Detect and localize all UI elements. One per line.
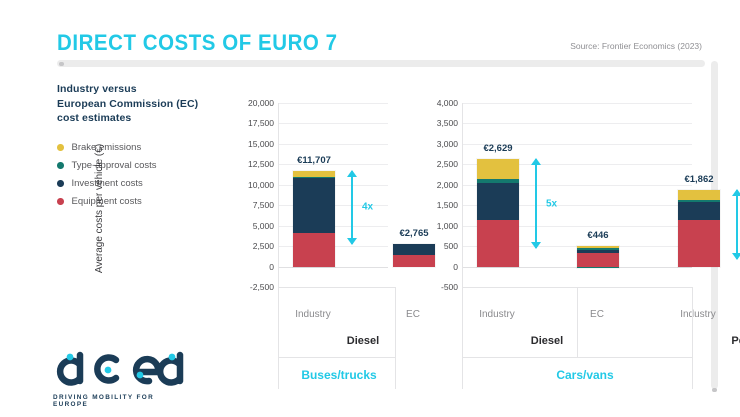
arrow-head-down: [531, 242, 541, 249]
fuel-label-diesel: Diesel: [531, 335, 563, 347]
arrow-head-up: [732, 189, 740, 196]
category-label-ec: EC: [590, 309, 604, 320]
y-axis-tick-label: 5,000: [253, 221, 274, 231]
bar-buses-trucks-1[interactable]: [393, 244, 435, 267]
y-axis-tick-label: 7,500: [253, 200, 274, 210]
y-axis-tick-label: 0: [453, 262, 458, 272]
bar-segment: [293, 171, 335, 177]
source-note: Source: Frontier Economics (2023): [570, 41, 702, 51]
category-label-industry: Industry: [680, 309, 716, 320]
legend-item: Brake emissions: [57, 140, 232, 156]
plot-area-cars-vans: 4,0003,5003,0002,5002,0001,5001,0005000-…: [462, 103, 692, 287]
fuel-label-diesel: Diesel: [347, 335, 379, 347]
y-axis-tick-label: 12,500: [248, 159, 274, 169]
bar-segment: [293, 233, 335, 267]
axis-separator-left-end: [395, 287, 396, 389]
legend-item-label: Investment costs: [72, 178, 143, 189]
arrow-shaft: [736, 190, 738, 259]
plot-baseline-left: [278, 287, 395, 288]
ratio-arrow-5x: 5x: [529, 159, 543, 248]
legend-swatch-1: [57, 144, 64, 151]
y-axis-tick-label: 10,000: [248, 180, 274, 190]
bar-total-label: €2,765: [399, 228, 428, 239]
bar-buses-trucks-0[interactable]: [293, 171, 335, 267]
category-label-industry: Industry: [295, 309, 331, 320]
bar-segment: [577, 253, 619, 266]
legend-item-label: Brake emissions: [72, 142, 142, 153]
y-axis-tick-label: 2,500: [253, 241, 274, 251]
axis-separator-right: [462, 287, 463, 389]
bar-segment: [577, 248, 619, 250]
group-separator-right: [462, 357, 692, 358]
bar-segment: [293, 177, 335, 233]
legend-swatch-3: [57, 180, 64, 187]
acea-logo: DRIVING MOBILITY FOR EUROPE: [50, 345, 190, 408]
group-separator-left: [278, 357, 395, 358]
acea-logo-mark: [50, 345, 190, 387]
gridline: [463, 123, 692, 124]
header-accent-dot: [59, 62, 64, 67]
bar-segment: [477, 179, 519, 182]
y-axis-tick-label: 1,000: [437, 221, 458, 231]
legend-panel: Industry versus European Commission (EC)…: [57, 82, 232, 212]
y-axis-tick-label: -2,500: [250, 282, 274, 292]
ratio-label: 4x: [362, 202, 373, 213]
bar-segment: [678, 220, 720, 266]
gridline: [279, 267, 388, 268]
y-axis-tick-label: 2,500: [437, 159, 458, 169]
arrow-head-down: [732, 253, 740, 260]
gridline: [279, 144, 388, 145]
legend-heading-line-3: cost estimates: [57, 111, 232, 126]
axis-separator-right-end: [692, 287, 693, 389]
bar-segment: [577, 267, 619, 269]
bar-total-label: €2,629: [483, 143, 512, 154]
legend-swatch-2: [57, 162, 64, 169]
fuel-label-petrol: Petrol: [731, 335, 740, 347]
gridline: [279, 123, 388, 124]
category-label-industry: Industry: [479, 309, 515, 320]
gridline: [279, 164, 388, 165]
legend-list: Brake emissionsType-approval costsInvest…: [57, 140, 232, 210]
bar-segment: [577, 250, 619, 253]
bar-segment: [477, 159, 519, 179]
axis-separator-mid: [577, 287, 578, 357]
page-title: DIRECT COSTS OF EURO 7: [57, 30, 338, 56]
ratio-label: 5x: [546, 198, 557, 209]
y-axis-tick-label: 17,500: [248, 118, 274, 128]
legend-swatch-4: [57, 198, 64, 205]
bar-total-label: €11,707: [297, 155, 331, 166]
plot-area-buses-trucks: 20,00017,50015,00012,50010,0007,5005,000…: [278, 103, 388, 287]
bar-segment: [678, 190, 720, 199]
bar-total-label: €446: [587, 230, 608, 241]
y-axis-tick-label: 4,000: [437, 98, 458, 108]
ratio-arrow-10x: 10x: [730, 190, 740, 259]
bar-segment: [393, 255, 435, 267]
legend-item: Type-approval costs: [57, 158, 232, 174]
bar-segment: [393, 244, 435, 255]
scrollbar-dot: [712, 388, 717, 393]
bar-segment: [678, 200, 720, 202]
axis-separator-left: [278, 287, 279, 389]
infographic-root: DIRECT COSTS OF EURO 7 Source: Frontier …: [0, 0, 740, 417]
bar-segment: [678, 202, 720, 221]
y-axis-tick-label: 3,500: [437, 118, 458, 128]
y-axis-tick-label: 0: [269, 262, 274, 272]
gridline: [463, 103, 692, 104]
bar-segment: [577, 246, 619, 248]
ratio-arrow-4x: 4x: [345, 171, 359, 244]
bar-segment: [477, 183, 519, 220]
arrow-head-down: [347, 238, 357, 245]
arrow-head-up: [531, 158, 541, 165]
acea-logo-tagline: DRIVING MOBILITY FOR EUROPE: [53, 394, 190, 408]
y-axis-tick-label: 1,500: [437, 200, 458, 210]
legend-item-label: Type-approval costs: [72, 160, 157, 171]
bar-cars-vans-1[interactable]: [577, 246, 619, 268]
arrow-shaft: [535, 159, 537, 248]
plot-baseline-right: [462, 287, 692, 288]
header-accent-track: [57, 60, 705, 67]
gridline: [279, 103, 388, 104]
y-axis-tick-label: -500: [441, 282, 458, 292]
legend-item-label: Equipment costs: [72, 196, 142, 207]
y-axis-title: Average costs per vehicle (€): [94, 144, 105, 273]
y-axis-tick-label: 3,000: [437, 139, 458, 149]
y-axis-tick-label: 500: [444, 241, 458, 251]
bar-cars-vans-2[interactable]: [678, 190, 720, 266]
bar-cars-vans-0[interactable]: [477, 159, 519, 266]
group-label-buses-trucks: Buses/trucks: [301, 368, 376, 382]
bar-segment: [293, 177, 335, 178]
legend-item: Equipment costs: [57, 194, 232, 210]
y-axis-tick-label: 15,000: [248, 139, 274, 149]
y-axis-tick-label: 20,000: [248, 98, 274, 108]
legend-heading-line-1: Industry versus: [57, 82, 232, 97]
legend-heading-line-2: European Commission (EC): [57, 97, 232, 112]
y-axis-tick-label: 2,000: [437, 180, 458, 190]
bar-total-label: €1,862: [684, 174, 713, 185]
arrow-shaft: [351, 171, 353, 244]
arrow-head-up: [347, 170, 357, 177]
legend-item: Investment costs: [57, 176, 232, 192]
legend-heading: Industry versus European Commission (EC)…: [57, 82, 232, 126]
bar-segment: [477, 220, 519, 267]
category-label-ec: EC: [406, 309, 420, 320]
group-label-cars-vans: Cars/vans: [556, 368, 613, 382]
